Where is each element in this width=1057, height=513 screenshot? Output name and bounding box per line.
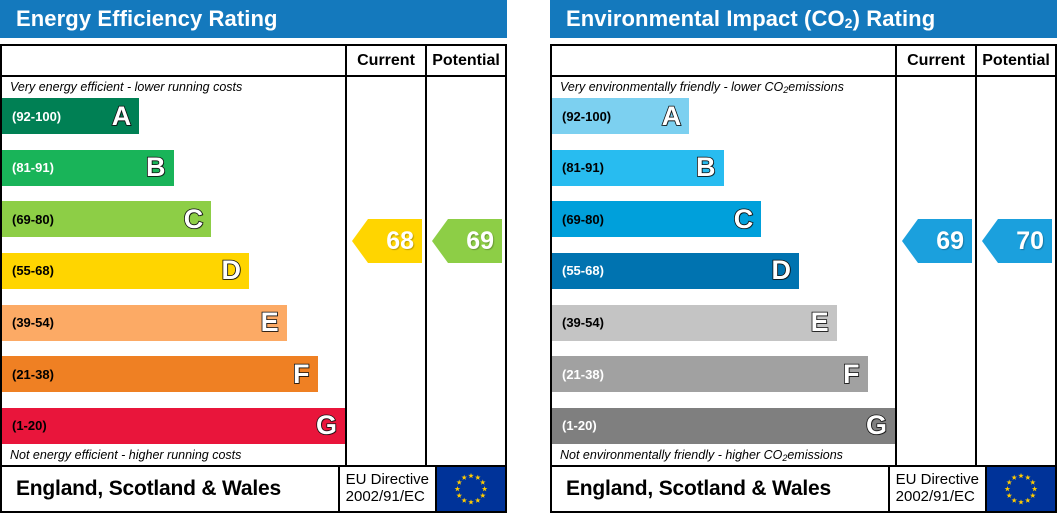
band-range-label: (81-91) [2, 160, 54, 175]
band-row-f: (21-38)F [552, 356, 868, 392]
band-letter-b: B [146, 154, 166, 181]
band-range-label: (69-80) [2, 212, 54, 227]
band-row-e: (39-54)E [552, 305, 837, 341]
panel-title-energy: Energy Efficiency Rating [0, 0, 507, 38]
band-letter-f: F [843, 361, 860, 388]
epc-charts-page: Energy Efficiency Rating Current Potenti… [0, 0, 1057, 467]
environmental-bottom-caption: Not environmentally friendly - higher CO… [552, 445, 895, 465]
environmental-bottom-caption-tail: emissions [787, 448, 843, 462]
environmental-top-caption: Very environmentally friendly - lower CO… [552, 77, 895, 97]
band-range-label: (1-20) [2, 418, 47, 433]
energy-footer: England, Scotland & Wales EU Directive 2… [0, 467, 507, 513]
directive-line-1: EU Directive [346, 472, 429, 489]
band-range-label: (55-68) [2, 263, 54, 278]
band-letter-d: D [771, 257, 791, 284]
environmental-bottom-caption-text: Not environmentally friendly - higher CO [560, 448, 782, 462]
band-row-g: (1-20)G [2, 408, 345, 444]
environmental-column-header: Current Potential [552, 46, 1055, 77]
environmental-current-column: 69 [895, 77, 975, 465]
band-letter-e: E [811, 309, 829, 336]
band-range-label: (69-80) [552, 212, 604, 227]
environmental-potential-header: Potential [975, 46, 1055, 75]
energy-potential-column: 69 [425, 77, 505, 465]
environmental-band-list: (92-100)A(81-91)B(69-80)C(55-68)D(39-54)… [552, 97, 895, 445]
band-row-a: (92-100)A [2, 98, 139, 134]
environmental-current-header: Current [895, 46, 975, 75]
panel-title-environmental-suffix: ) Rating [853, 6, 936, 32]
co2-subscript: 2 [845, 15, 853, 31]
energy-body-row: Very energy efficient - lower running co… [2, 77, 505, 465]
panel-title-environmental-text: Environmental Impact (CO [566, 6, 845, 32]
environmental-top-caption-text: Very environmentally friendly - lower CO [560, 80, 783, 94]
directive-line-1: EU Directive [896, 472, 979, 489]
energy-bands-column: Very energy efficient - lower running co… [2, 77, 345, 465]
band-range-label: (21-38) [552, 367, 604, 382]
energy-current-column: 68 [345, 77, 425, 465]
environmental-body-row: Very environmentally friendly - lower CO… [552, 77, 1055, 465]
environmental-top-caption-tail: emissions [788, 80, 844, 94]
energy-footer-directive: EU Directive 2002/91/EC [338, 467, 435, 511]
band-letter-e: E [261, 309, 279, 336]
panel-title-energy-text: Energy Efficiency Rating [16, 6, 278, 32]
band-letter-g: G [316, 412, 337, 439]
band-letter-c: C [184, 206, 204, 233]
environmental-potential-column: 70 [975, 77, 1055, 465]
band-row-c: (69-80)C [552, 201, 761, 237]
band-row-b: (81-91)B [552, 150, 724, 186]
band-row-e: (39-54)E [2, 305, 287, 341]
band-range-label: (81-91) [552, 160, 604, 175]
energy-efficiency-panel: Energy Efficiency Rating Current Potenti… [0, 0, 507, 467]
band-letter-c: C [734, 206, 754, 233]
band-row-c: (69-80)C [2, 201, 211, 237]
band-range-label: (21-38) [2, 367, 54, 382]
directive-line-2: 2002/91/EC [346, 489, 429, 506]
directive-line-2: 2002/91/EC [896, 489, 979, 506]
header-spacer [2, 46, 345, 75]
band-row-b: (81-91)B [2, 150, 174, 186]
environmental-footer-directive: EU Directive 2002/91/EC [888, 467, 985, 511]
environmental-impact-panel: Environmental Impact (CO2) Rating Curren… [550, 0, 1057, 467]
band-range-label: (92-100) [2, 109, 61, 124]
panel-title-environmental: Environmental Impact (CO2) Rating [550, 0, 1057, 38]
band-letter-b: B [696, 154, 716, 181]
energy-band-list: (92-100)A(81-91)B(69-80)C(55-68)D(39-54)… [2, 97, 345, 445]
co2-subscript: 2 [783, 85, 788, 95]
band-row-g: (1-20)G [552, 408, 895, 444]
band-letter-g: G [866, 412, 887, 439]
co2-subscript: 2 [782, 453, 787, 463]
header-spacer [552, 46, 895, 75]
environmental-current-rating-arrow: 69 [902, 219, 972, 263]
energy-column-header: Current Potential [2, 46, 505, 77]
band-letter-d: D [221, 257, 241, 284]
band-letter-a: A [662, 103, 682, 130]
environmental-footer-region: England, Scotland & Wales [552, 467, 888, 511]
band-row-f: (21-38)F [2, 356, 318, 392]
energy-bottom-caption: Not energy efficient - higher running co… [2, 445, 345, 465]
energy-current-header: Current [345, 46, 425, 75]
eu-flag-icon [435, 467, 505, 511]
band-range-label: (55-68) [552, 263, 604, 278]
environmental-potential-rating-arrow: 70 [982, 219, 1052, 263]
band-row-d: (55-68)D [2, 253, 249, 289]
energy-footer-region: England, Scotland & Wales [2, 467, 338, 511]
environmental-chart-box: Current Potential Very environmentally f… [550, 44, 1057, 467]
band-range-label: (39-54) [552, 315, 604, 330]
band-row-d: (55-68)D [552, 253, 799, 289]
energy-potential-header: Potential [425, 46, 505, 75]
band-range-label: (92-100) [552, 109, 611, 124]
environmental-bands-column: Very environmentally friendly - lower CO… [552, 77, 895, 465]
energy-potential-rating-arrow: 69 [432, 219, 502, 263]
band-range-label: (1-20) [552, 418, 597, 433]
energy-current-rating-arrow: 68 [352, 219, 422, 263]
band-letter-a: A [112, 103, 132, 130]
energy-top-caption: Very energy efficient - lower running co… [2, 77, 345, 97]
band-row-a: (92-100)A [552, 98, 689, 134]
energy-chart-box: Current Potential Very energy efficient … [0, 44, 507, 467]
environmental-footer: England, Scotland & Wales EU Directive 2… [550, 467, 1057, 513]
band-letter-f: F [293, 361, 310, 388]
band-range-label: (39-54) [2, 315, 54, 330]
eu-flag-icon [985, 467, 1055, 511]
